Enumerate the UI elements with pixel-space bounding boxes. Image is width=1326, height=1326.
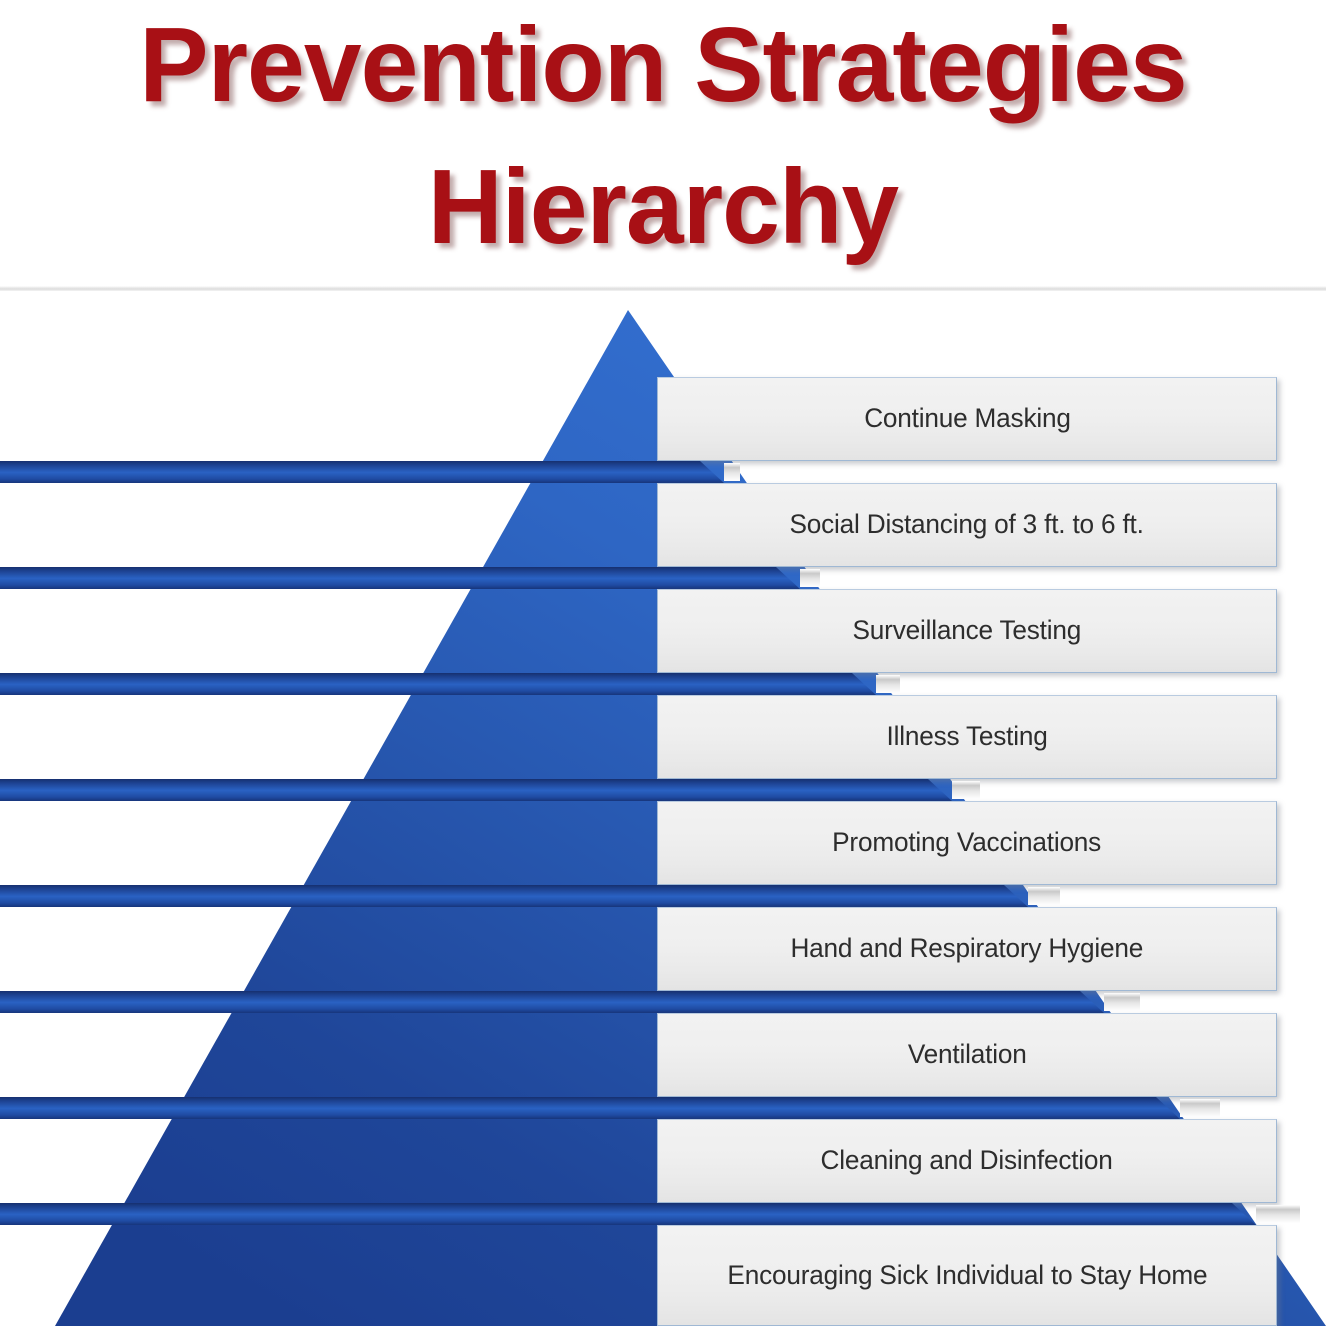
level-box-7[interactable]: Ventilation [657,1013,1277,1097]
level-step-1 [0,461,740,483]
level-step-6 [0,991,1140,1013]
level-box-5[interactable]: Promoting Vaccinations [657,801,1277,885]
level-step-5 [0,885,1060,907]
title-area: Prevention Strategies Hierarchy [0,0,1326,286]
level-label-6: Hand and Respiratory Hygiene [791,934,1144,964]
level-label-8: Cleaning and Disinfection [821,1146,1113,1176]
level-label-7: Ventilation [908,1040,1027,1070]
level-step-2 [0,567,820,589]
level-box-2[interactable]: Social Distancing of 3 ft. to 6 ft. [657,483,1277,567]
level-step-3 [0,673,900,695]
level-label-5: Promoting Vaccinations [833,828,1102,858]
level-label-1: Continue Masking [864,404,1071,434]
slide-canvas: Prevention Strategies Hierarchy [0,0,1326,1326]
level-box-6[interactable]: Hand and Respiratory Hygiene [657,907,1277,991]
diagram-area: Continue Masking Social Distancing of 3 … [0,291,1326,1326]
level-label-9: Encouraging Sick Individual to Stay Home [727,1261,1207,1291]
level-step-4 [0,779,980,801]
page-title: Prevention Strategies Hierarchy [13,0,1312,278]
hierarchy-rows: Continue Masking Social Distancing of 3 … [0,291,1326,1326]
level-step-7 [0,1097,1220,1119]
level-label-2: Social Distancing of 3 ft. to 6 ft. [790,510,1144,540]
level-label-3: Surveillance Testing [853,616,1082,646]
level-label-4: Illness Testing [886,722,1047,752]
level-box-9[interactable]: Encouraging Sick Individual to Stay Home [657,1225,1277,1326]
level-box-3[interactable]: Surveillance Testing [657,589,1277,673]
level-box-4[interactable]: Illness Testing [657,695,1277,779]
level-box-8[interactable]: Cleaning and Disinfection [657,1119,1277,1203]
level-step-8 [0,1203,1300,1225]
level-box-1[interactable]: Continue Masking [657,377,1277,461]
